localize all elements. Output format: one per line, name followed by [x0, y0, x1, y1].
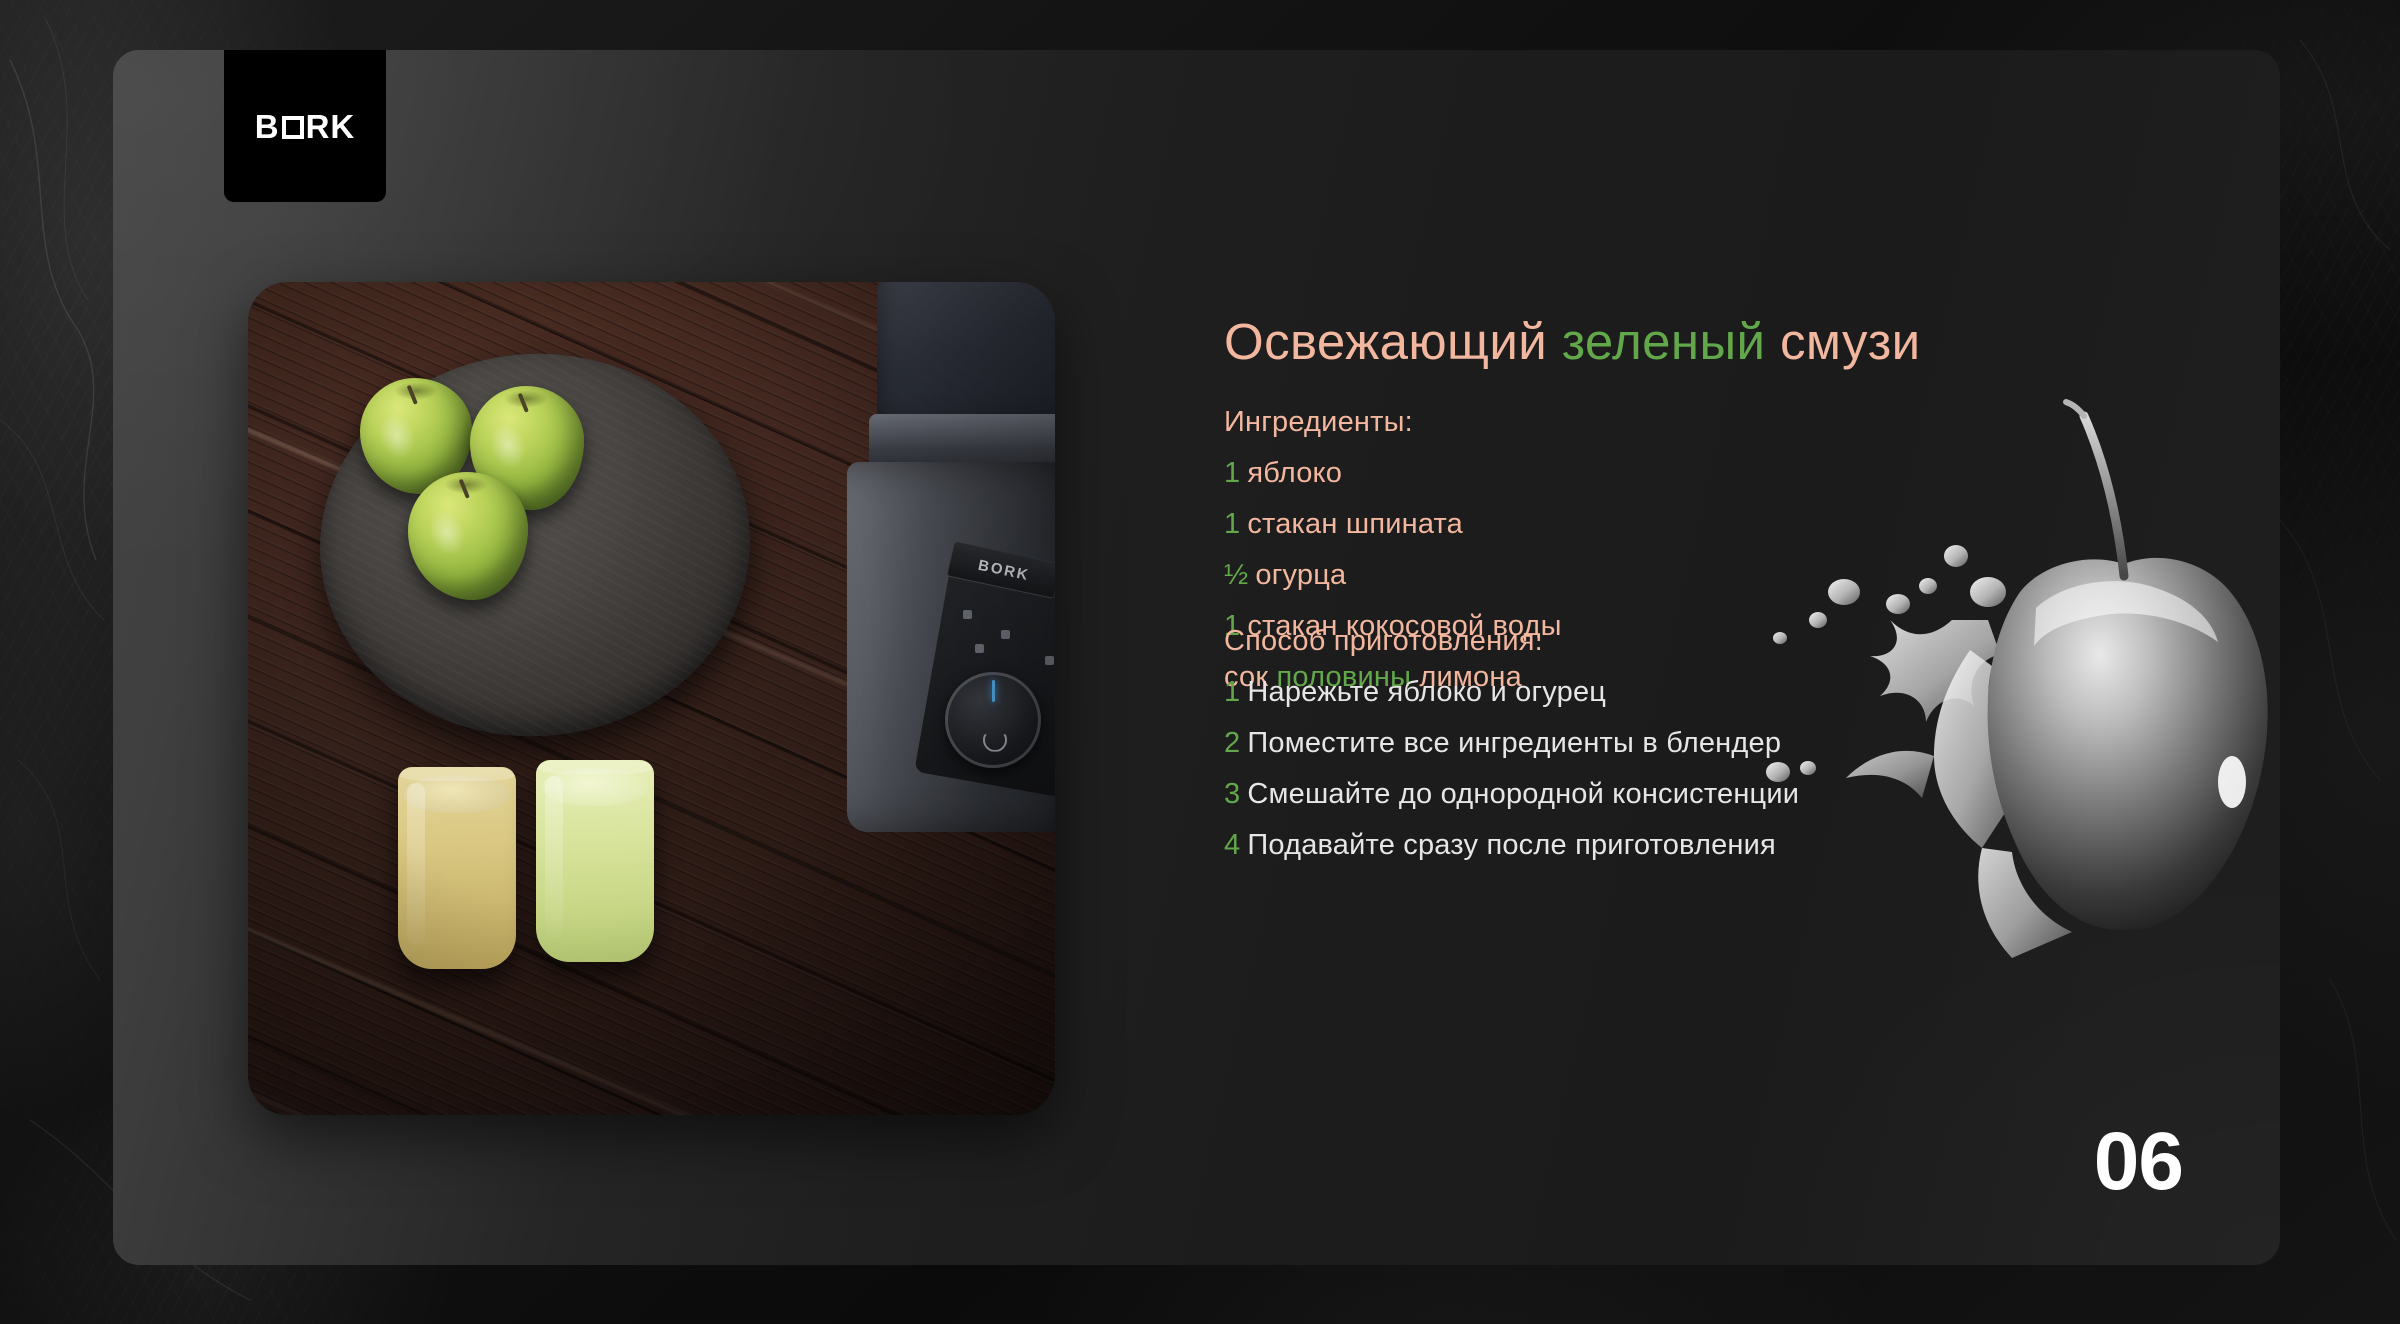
ingredients-heading: Ингредиенты: — [1224, 405, 1562, 439]
page-number: 06 — [2094, 1121, 2183, 1203]
glass-gloss — [407, 783, 425, 945]
method-step: 3Смешайте до однородной консистенции — [1224, 778, 1799, 811]
method-step: 2Поместите все ингредиенты в блендер — [1224, 727, 1799, 760]
glass-rim — [536, 760, 654, 774]
step-text: Смешайте до однородной консистенции — [1247, 778, 1799, 810]
step-text: Нарежьте яблоко и огурец — [1247, 676, 1606, 708]
recipe-photo: BORK — [248, 282, 1055, 1115]
recipe-content: Освежающий зеленый смузи Ингредиенты: 1я… — [1224, 50, 2280, 1265]
method-heading: Способ приготовления: — [1224, 624, 1799, 658]
glass-gloss — [545, 776, 563, 938]
title-highlight: зеленый — [1562, 313, 1766, 370]
title-part-1: Освежающий — [1224, 313, 1562, 370]
blender-knob — [945, 672, 1041, 768]
step-number: 3 — [1224, 778, 1240, 810]
apple-highlight — [373, 408, 421, 463]
method-step: 4Подавайте сразу после приготовления — [1224, 829, 1799, 862]
step-number: 2 — [1224, 727, 1240, 759]
bork-logo[interactable]: B RK — [224, 50, 386, 202]
bork-logo-text: B RK — [255, 110, 356, 143]
page-title: Освежающий зеленый смузи — [1224, 316, 1921, 367]
logo-letter-rk: RK — [306, 110, 356, 143]
smoothie-glass — [398, 767, 516, 969]
ingredient-item: 1яблоко — [1224, 457, 1562, 490]
ingredient-item: 1стакан шпината — [1224, 508, 1562, 541]
ingredient-text: яблоко — [1247, 457, 1342, 489]
method-step: 1Нарежьте яблоко и огурец — [1224, 676, 1799, 709]
logo-letter-o — [282, 116, 304, 139]
step-text: Поместите все ингредиенты в блендер — [1247, 727, 1781, 759]
power-icon — [983, 728, 1007, 752]
step-number: 4 — [1224, 829, 1240, 861]
photo-scene: BORK — [248, 282, 1055, 1115]
blender-brand-text: BORK — [977, 556, 1032, 583]
apple-highlight — [484, 419, 532, 474]
bork-blender: BORK — [839, 282, 1055, 864]
ingredient-text: стакан шпината — [1247, 508, 1463, 540]
slide-stage: B RK — [0, 0, 2400, 1324]
ingredient-text: огурца — [1255, 559, 1346, 591]
step-text: Подавайте сразу после приготовления — [1247, 829, 1776, 861]
ingredient-qty: 1 — [1224, 508, 1240, 540]
smoothie-glass — [536, 760, 654, 962]
ingredient-qty: ½ — [1224, 559, 1248, 591]
ingredient-item: ½огурца — [1224, 559, 1562, 592]
glass-rim — [398, 767, 516, 781]
apple-highlight — [423, 506, 471, 561]
step-number: 1 — [1224, 676, 1240, 708]
title-part-2: смузи — [1765, 313, 1920, 370]
logo-letter-b: B — [255, 110, 280, 143]
slide-card: B RK — [113, 50, 2280, 1265]
method-block: Способ приготовления: 1Нарежьте яблоко и… — [1224, 624, 1799, 862]
ingredient-qty: 1 — [1224, 457, 1240, 489]
